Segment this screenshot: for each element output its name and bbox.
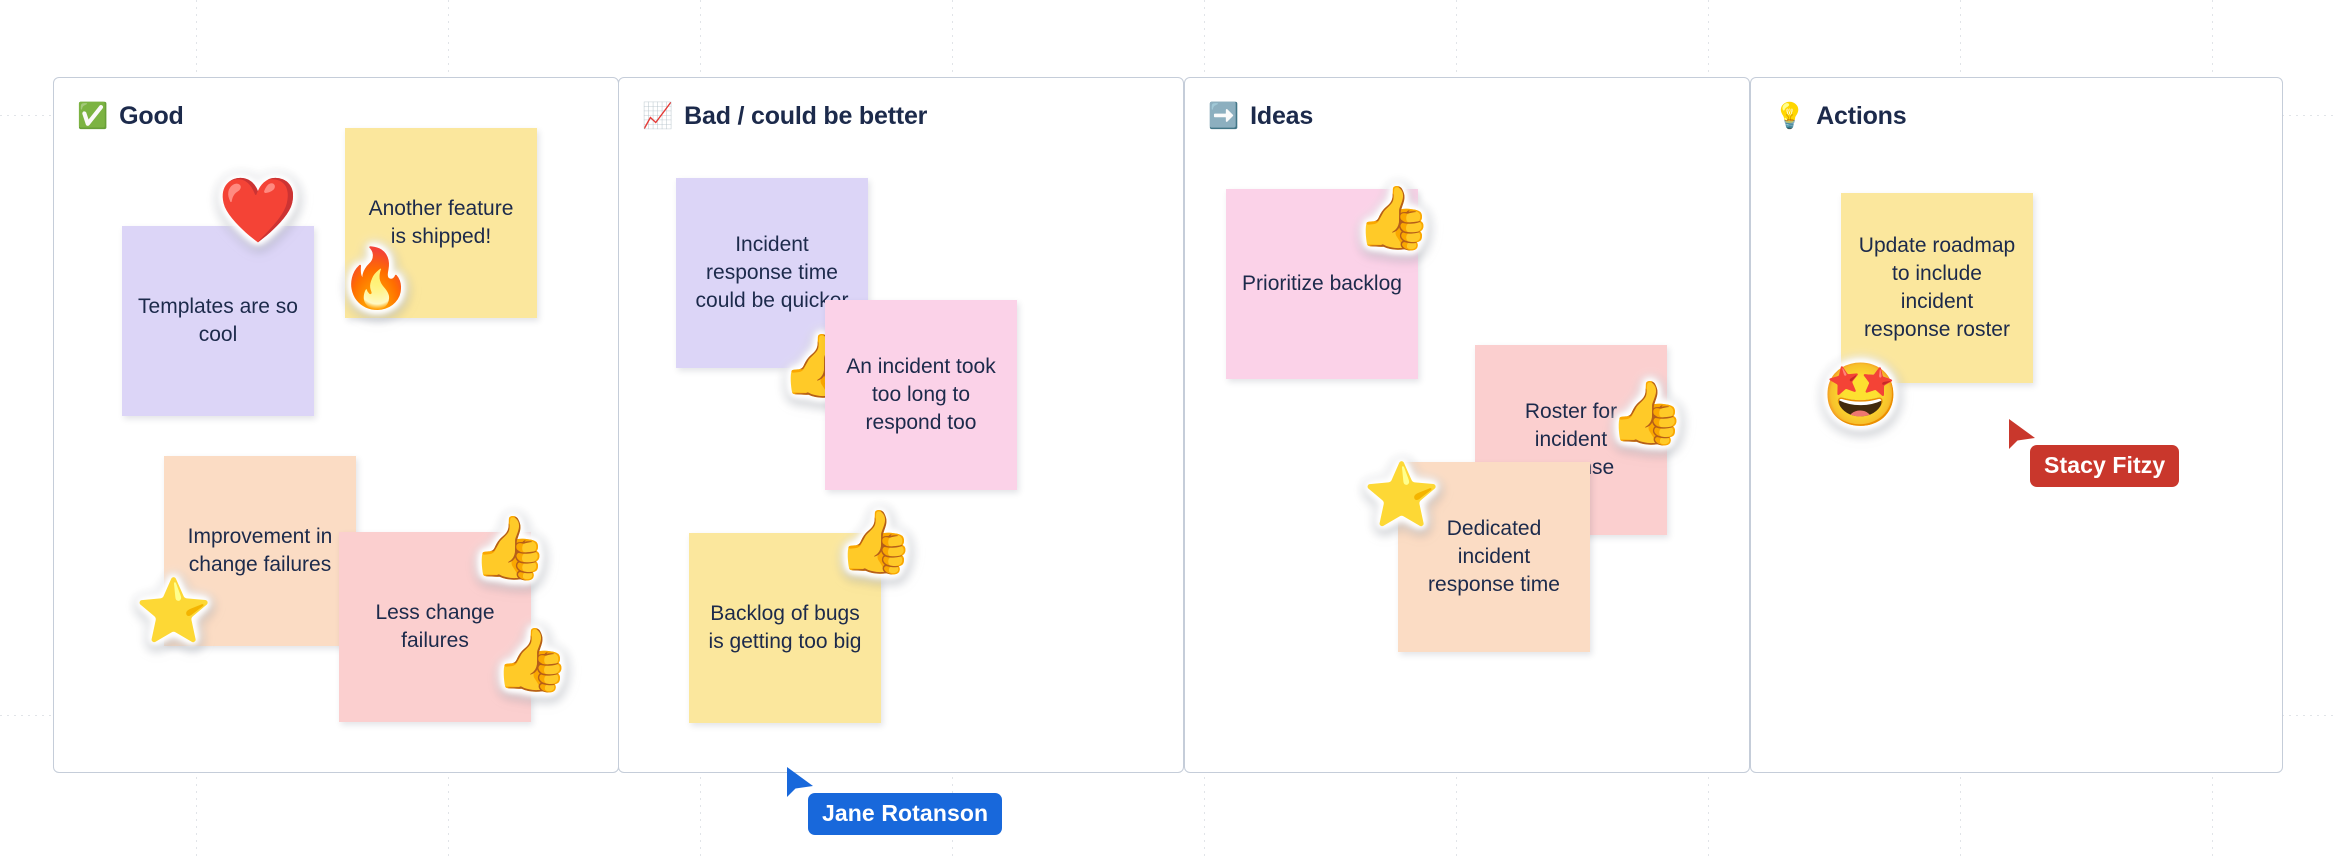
cursor-name-label: Stacy Fitzy bbox=[2030, 445, 2179, 487]
collaborator-cursors: Jane RotansonStacy Fitzy bbox=[0, 0, 2336, 860]
cursor-name-label: Jane Rotanson bbox=[808, 793, 1002, 835]
